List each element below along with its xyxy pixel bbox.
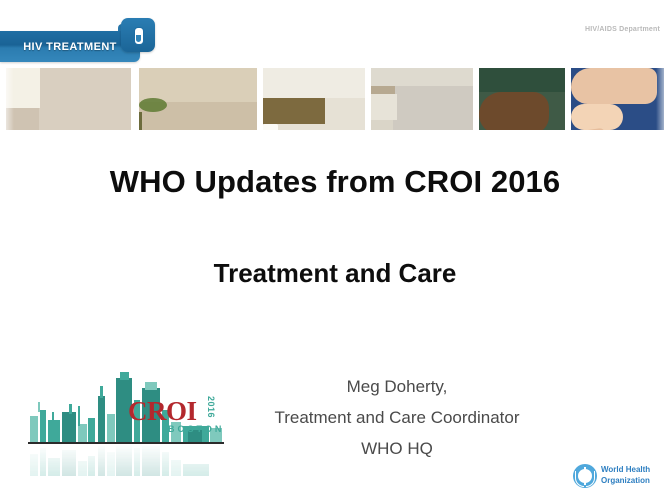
- medicine-bottles-photo: [263, 68, 365, 130]
- strip-fade-left: [0, 68, 14, 130]
- pill-icon-plate: [249, 41, 269, 65]
- who-logo-text: World Health Organization: [601, 465, 650, 486]
- capsule-icon: [134, 27, 144, 45]
- hand-with-pill-photo: [571, 68, 664, 130]
- croi-wordmark: CROI: [128, 396, 197, 427]
- croi-2016-boston-logo: CROI 2016 BOSTON: [28, 366, 228, 476]
- header-photo-strip: [0, 68, 670, 130]
- author-name: Meg Doherty,: [232, 371, 562, 402]
- slide-subtitle: Treatment and Care: [0, 258, 670, 289]
- author-affiliation: WHO HQ: [232, 433, 562, 464]
- hiv-treatment-label: HIV TREATMENT: [0, 31, 140, 62]
- who-logo-line2: Organization: [601, 476, 650, 487]
- croi-city: BOSTON: [168, 424, 224, 434]
- who-logo-line1: World Health: [601, 465, 650, 476]
- township-cyclists-photo: [371, 68, 473, 130]
- author-block: Meg Doherty, Treatment and Care Coordina…: [232, 371, 562, 464]
- counselling-session-photo: [6, 68, 131, 130]
- who-emblem-icon: [573, 464, 597, 488]
- who-logo: World Health Organization: [573, 462, 665, 492]
- presentation-slide: HIV/AIDS Department HIV TREATMENT: [0, 0, 670, 503]
- croi-skyline-reflection: [28, 444, 224, 476]
- mobile-clinic-van-photo: [139, 68, 257, 130]
- strip-fade-right: [656, 68, 670, 130]
- hand-with-pills-photo: [479, 68, 565, 130]
- croi-year: 2016: [206, 396, 216, 418]
- slide-title: WHO Updates from CROI 2016: [0, 164, 670, 200]
- author-role: Treatment and Care Coordinator: [232, 402, 562, 433]
- department-label: HIV/AIDS Department: [585, 26, 660, 33]
